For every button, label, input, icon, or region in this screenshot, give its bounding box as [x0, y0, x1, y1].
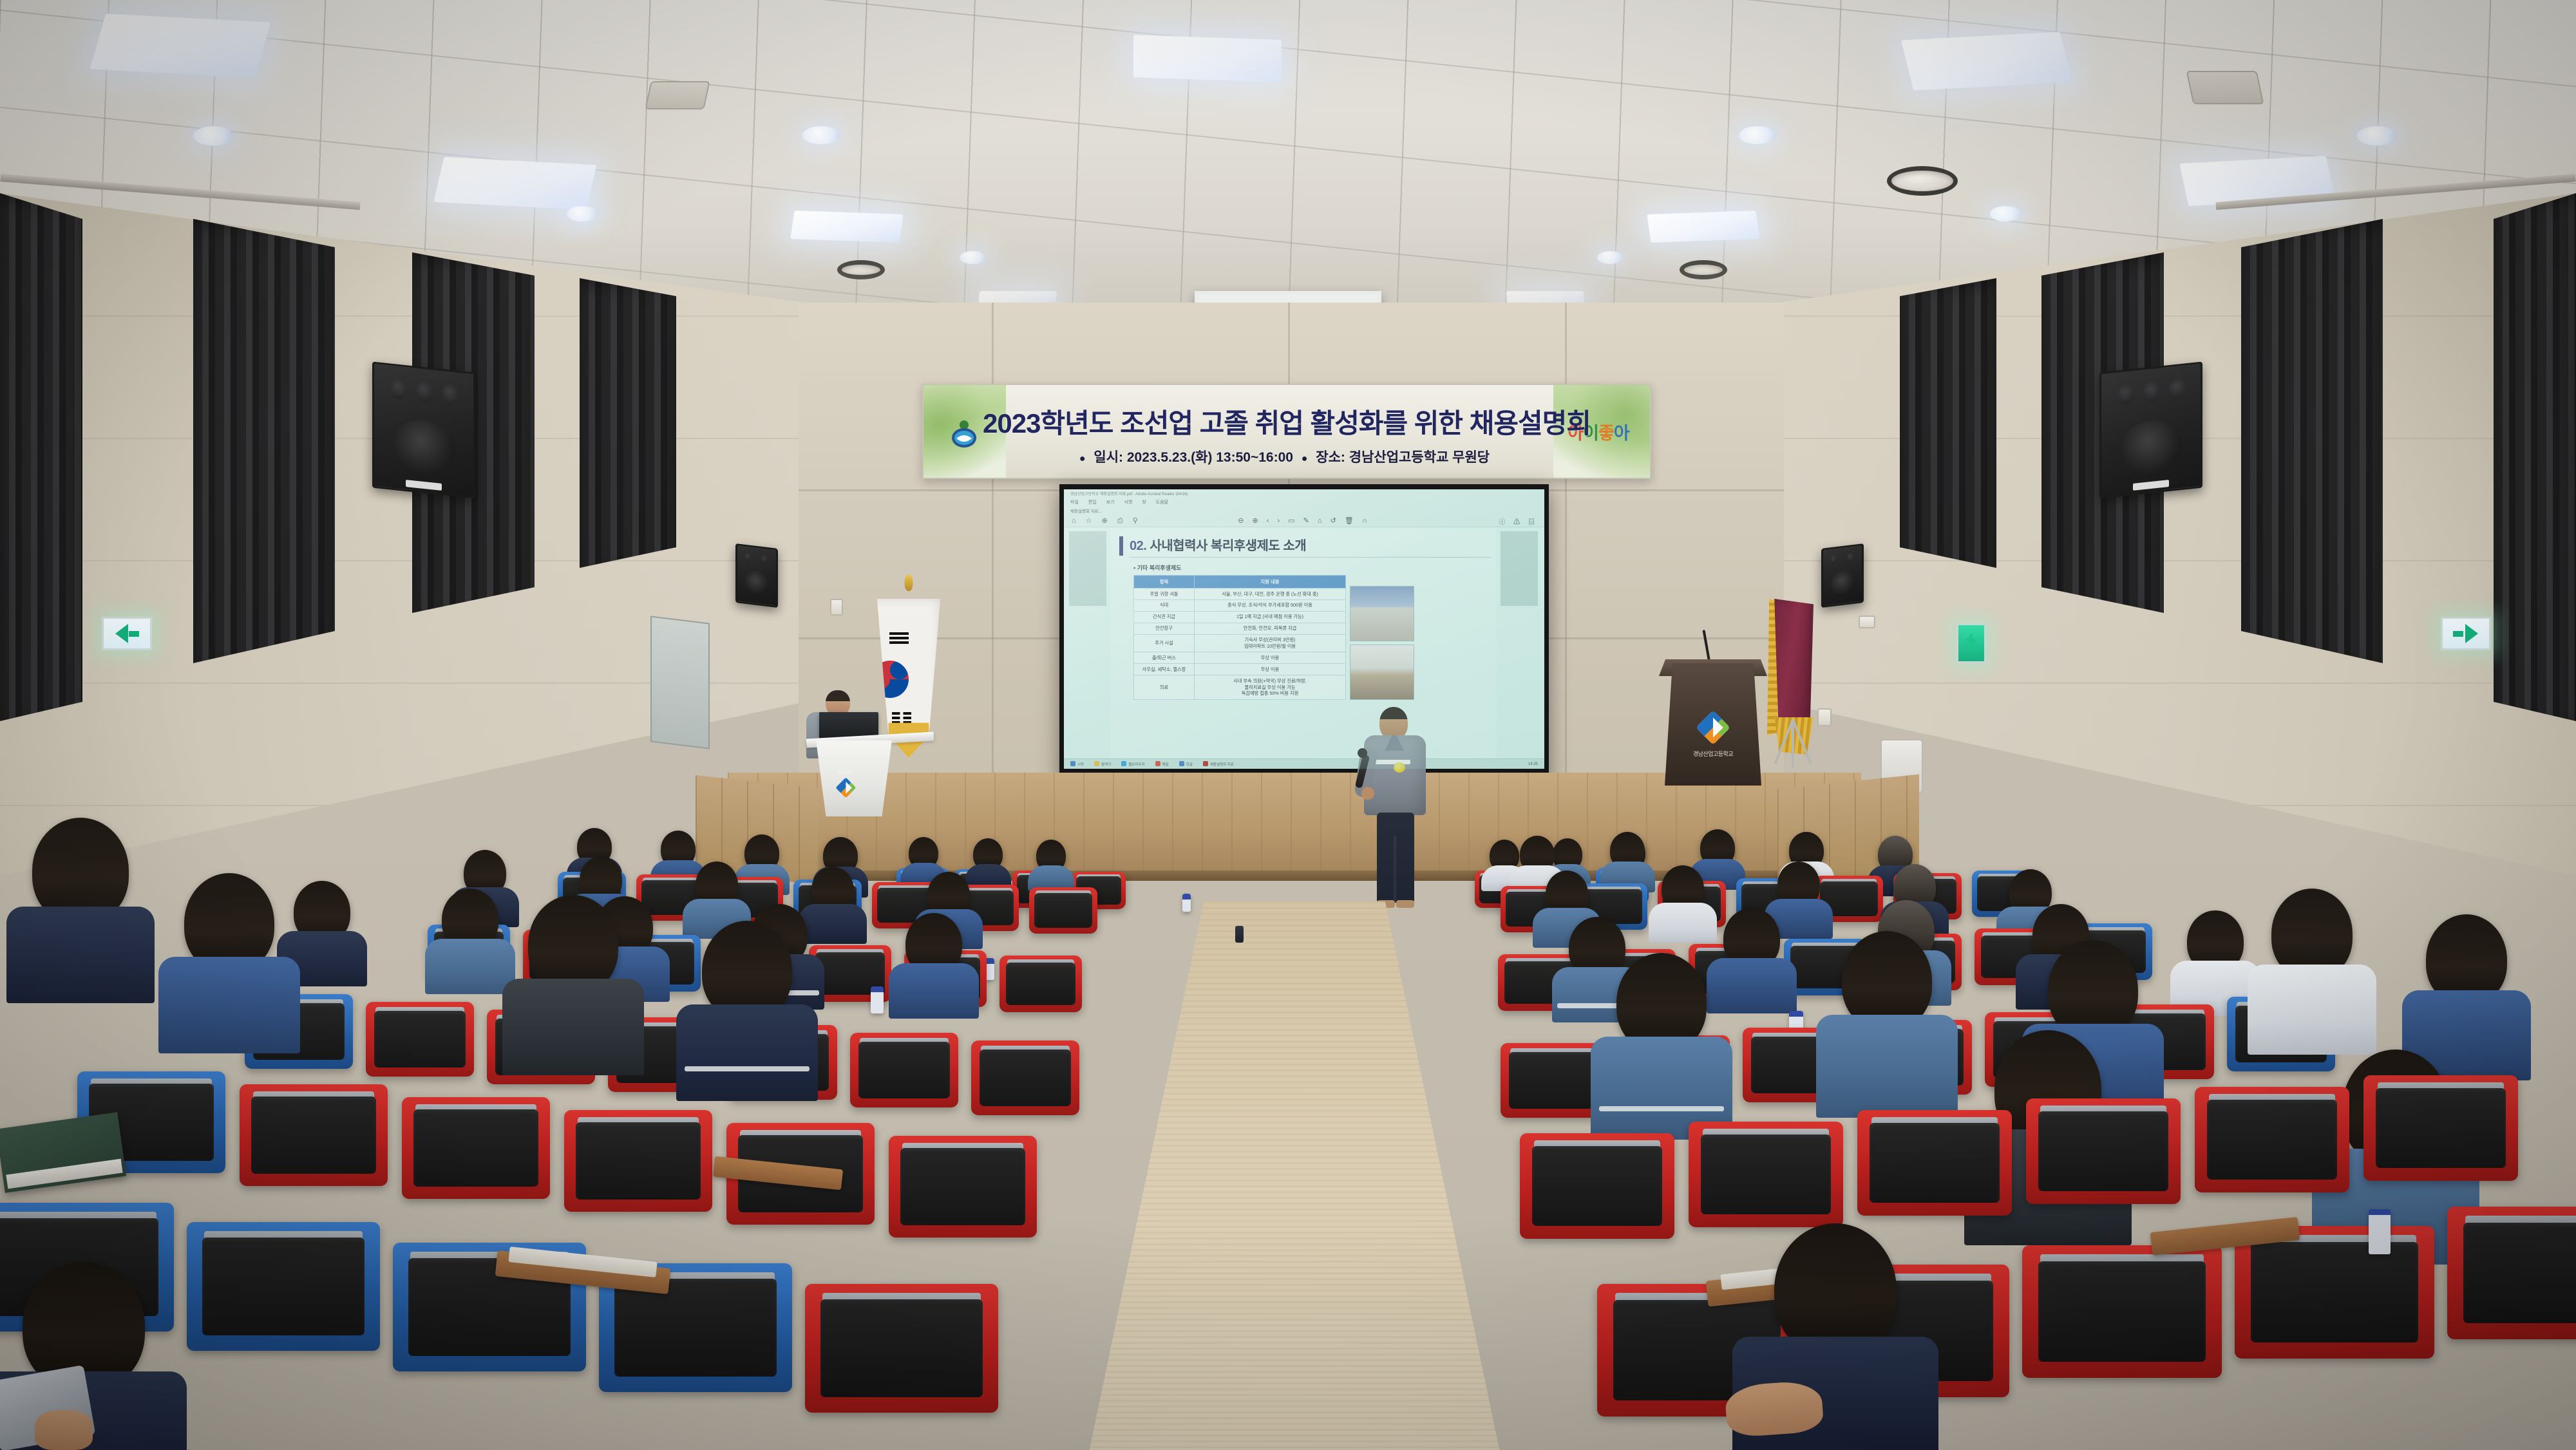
ceiling-panel-light	[1133, 35, 1282, 82]
taskbar-item-start[interactable]: 시작	[1070, 761, 1084, 767]
seat[interactable]	[999, 956, 1082, 1012]
white-lectern	[813, 740, 895, 816]
bullet-icon: ●	[1079, 453, 1086, 464]
projected-image: 경남산업고등학교 채용설명회 자료.pdf - Adobe Acrobat Re…	[1064, 489, 1544, 769]
wall-speaker-right-mid	[1821, 543, 1864, 608]
wall-speaker-left-front	[372, 362, 475, 499]
seat[interactable]	[564, 1110, 712, 1212]
banner-date: 일시: 2023.5.23.(화) 13:50~16:00	[1094, 450, 1293, 465]
taeguk-symbol	[871, 661, 909, 698]
menu-item-file[interactable]: 파일	[1070, 500, 1079, 505]
ceiling-air-vent	[2186, 71, 2264, 104]
exit-sign-left	[102, 617, 152, 650]
ceiling-downlight	[2357, 126, 2397, 146]
flag-stand	[1757, 720, 1828, 767]
toolbar-right-icon-group[interactable]: ⓘ ⚠ ▤	[1499, 516, 1538, 526]
audience-member	[2409, 914, 2524, 1056]
window-curtain-right-4	[1900, 278, 1996, 568]
flag-finial	[905, 574, 913, 591]
aisle-bottle	[1235, 926, 1244, 943]
pdf-right-panel[interactable]	[1501, 531, 1538, 606]
seat[interactable]	[1029, 887, 1097, 934]
table-header-item: 항목	[1134, 576, 1195, 588]
audience-member	[165, 873, 294, 1028]
ceiling-downlight	[1739, 126, 1776, 144]
seat[interactable]	[2447, 1207, 2576, 1339]
seat[interactable]	[2195, 1087, 2349, 1192]
school-logo	[1701, 715, 1725, 740]
slide-section-title: 사내협력사 복리후생제도 소개	[1150, 539, 1306, 553]
auditorium-scene: 아이좋아 2023학년도 조선업 고졸 취업 활성화를 위한 채용설명회 ● 일…	[0, 0, 2576, 1450]
audience-member	[509, 895, 638, 1050]
seat[interactable]	[2363, 1075, 2518, 1181]
banner-place: 장소: 경남산업고등학교 무원당	[1316, 450, 1490, 465]
banner-title: 2023학년도 조선업 고졸 취업 활성화를 위한 채용설명회	[923, 402, 1650, 441]
taskbar-item-explorer[interactable]: 탐색기	[1094, 761, 1111, 767]
slide-photo-column	[1350, 575, 1414, 700]
lectern-handle	[837, 770, 853, 775]
ceiling-downlight	[802, 126, 840, 144]
seat[interactable]	[366, 1002, 474, 1077]
toolbar-center-icon-group[interactable]: ⊖ ⊕ ‹ › ▭ ✎ ⌂ ↺ 🗑 ∩	[1238, 516, 1370, 525]
audience-member	[683, 921, 811, 1075]
table-cell-detail: 사내 부속 의원(+약국) 무상 진료/처방, 물리치료실 무상 이용 가능 독…	[1195, 675, 1346, 700]
table-row: 주말 귀향 셔틀 서울, 부산, 대구, 대전, 광주 운행 중 (노선 확대 …	[1134, 588, 1346, 600]
presenter	[1360, 707, 1430, 914]
table-cell-detail: 중식 무상, 조식/석식 부가세포함 500원 이용	[1195, 599, 1346, 611]
exit-arrow-left-icon	[115, 624, 128, 643]
table-cell-item: 간식권 지급	[1134, 611, 1195, 623]
ceiling-panel-light	[90, 14, 271, 78]
menu-item-sign[interactable]: 서명	[1124, 500, 1133, 505]
dormitory-exterior-photo	[1350, 586, 1414, 641]
slide-section-number: 02.	[1130, 539, 1146, 553]
exit-arrow-left-icon	[129, 631, 139, 637]
side-door-left[interactable]	[650, 616, 710, 749]
seat[interactable]	[402, 1097, 550, 1199]
table-row: 출/퇴근 버스 무상 이용	[1134, 652, 1346, 664]
exit-sign-far-right	[2441, 617, 2491, 650]
wall-speaker-right-front	[2099, 362, 2202, 499]
windows-taskbar[interactable]: 시작 탐색기 웹브라우저 메일 한글 채용설명회 자료 14:35	[1064, 758, 1544, 769]
presenter-head	[1379, 707, 1408, 739]
table-cell-item: 식대	[1134, 599, 1195, 611]
window-curtain-left-1	[0, 193, 82, 721]
korean-national-flag	[873, 587, 945, 758]
table-cell-item: 출/퇴근 버스	[1134, 652, 1195, 664]
seat[interactable]	[240, 1084, 388, 1186]
menu-item-window[interactable]: 창	[1142, 500, 1146, 505]
audience-member	[1600, 832, 1655, 887]
ceiling-air-vent	[645, 81, 710, 109]
seat[interactable]	[2022, 1245, 2222, 1378]
water-bottle	[1182, 894, 1191, 912]
ceiling-downlight	[567, 206, 598, 221]
audience-member	[889, 913, 979, 1003]
seat[interactable]	[850, 1033, 958, 1107]
menu-item-view[interactable]: 보기	[1106, 500, 1115, 505]
dark-lectern: 경남산업고등학교	[1665, 663, 1761, 786]
slide-bullet-heading: • 기타 복리후생제도	[1133, 563, 1492, 572]
table-cell-detail: 무상 이용	[1195, 652, 1346, 664]
pdf-left-panel[interactable]	[1069, 531, 1106, 606]
seat[interactable]	[1857, 1110, 2012, 1216]
window-curtain-right-2	[2241, 219, 2383, 663]
table-row: 사우실, 세탁소, 헬스장 무상 이용	[1134, 664, 1346, 675]
center-aisle	[1088, 901, 1501, 1450]
event-banner: 아이좋아 2023학년도 조선업 고졸 취업 활성화를 위한 채용설명회 ● 일…	[922, 384, 1651, 479]
seat[interactable]	[971, 1040, 1079, 1115]
ceiling-panel-light	[433, 157, 596, 211]
table-header-row: 항목 지원 내용	[1134, 576, 1346, 588]
pdf-document-tab[interactable]: 채용설명회 자료...	[1064, 506, 1544, 514]
pdf-toolbar[interactable]: ⌂ ☆ ⊕ ⎙ ⚲ ⊖ ⊕ ‹ › ▭ ✎ ⌂ ↺ 🗑 ∩ ⓘ ⚠ ▤	[1064, 514, 1544, 527]
menu-item-help[interactable]: 도움말	[1156, 500, 1168, 505]
school-logo-diamond	[1696, 710, 1730, 745]
presenter-hand	[1361, 787, 1374, 800]
table-row: 식대 중식 무상, 조식/석식 부가세포함 500원 이용	[1134, 599, 1346, 611]
water-bottle	[871, 986, 884, 1013]
dark-lectern-school-name: 경남산업고등학교	[1665, 749, 1761, 758]
taskbar-clock: 14:35	[1528, 762, 1538, 766]
presenter-badge	[1394, 762, 1405, 773]
table-cell-detail: 기숙사 무상(관리비 3만원) 임대아파트 10만원/월 이용	[1195, 634, 1346, 652]
pdf-app-titlebar: 경남산업고등학교 채용설명회 자료.pdf - Adobe Acrobat Re…	[1064, 489, 1544, 498]
taskbar-item-browser[interactable]: 웹브라우저	[1121, 761, 1144, 767]
table-cell-item: 의료	[1134, 675, 1195, 700]
taskbar-item-pdf[interactable]: 채용설명회 자료	[1203, 761, 1234, 767]
table-cell-item: 주거 시설	[1134, 634, 1195, 652]
seat[interactable]	[187, 1222, 380, 1351]
school-logo-diamond	[835, 777, 856, 798]
school-flag	[1765, 599, 1821, 766]
presenter-shoe-right	[1396, 900, 1414, 908]
welfare-benefits-table: 항목 지원 내용 주말 귀향 셔틀 서울, 부산, 대구, 대전, 광주 운행 …	[1133, 575, 1346, 700]
microphone-head-icon	[1358, 748, 1367, 758]
seat[interactable]	[1689, 1122, 1843, 1227]
table-header-detail: 지원 내용	[1195, 576, 1346, 588]
audience-member	[425, 889, 515, 979]
wall-switch-plate[interactable]	[1859, 616, 1875, 628]
seat[interactable]	[889, 1136, 1037, 1238]
exit-arrow-right-icon	[2453, 631, 2463, 637]
seat[interactable]	[2026, 1098, 2181, 1204]
window-curtain-left-2	[193, 219, 335, 663]
banner-subtitle: ● 일시: 2023.5.23.(화) 13:50~16:00 ● 장소: 경남…	[923, 447, 1650, 466]
slide-divider	[1130, 557, 1492, 558]
ceiling-speaker	[1887, 166, 1958, 196]
white-lectern-school-logo	[838, 780, 853, 795]
pdf-page-area: 02. 사내협력사 복리후생제도 소개 • 기타 복리후생제도 항목 지원 내용	[1064, 527, 1544, 758]
slide-accent-bar	[1119, 536, 1123, 556]
running-man-icon	[1965, 634, 1978, 653]
toolbar-left-icon-group[interactable]: ⌂ ☆ ⊕ ⎙ ⚲	[1072, 516, 1142, 525]
ceiling-downlight	[193, 126, 233, 146]
seat[interactable]	[1520, 1133, 1674, 1239]
audience-member	[2170, 910, 2260, 1001]
wall-speaker-left-mid	[735, 543, 778, 608]
tab-label[interactable]: 채용설명회 자료...	[1070, 509, 1102, 514]
water-bottle	[2369, 1209, 2391, 1254]
seat[interactable]	[2235, 1226, 2434, 1359]
pdf-app-menubar[interactable]: 파일 편집 보기 서명 창 도움말	[1064, 498, 1544, 506]
taskbar-item-hwp[interactable]: 한글	[1179, 761, 1193, 767]
ceiling-downlight	[1990, 206, 2021, 221]
presenter-name-tag	[1373, 760, 1410, 764]
slide-title: 02. 사내협력사 복리후생제도 소개	[1130, 535, 1492, 554]
table-row: 간식권 지급 1일 1매 지급 (사내 매점 이용 가능)	[1134, 611, 1346, 623]
presenter-leg-split	[1394, 836, 1396, 903]
slide-content: 항목 지원 내용 주말 귀향 셔틀 서울, 부산, 대구, 대전, 광주 운행 …	[1133, 575, 1492, 700]
dormitory-interior-photo	[1350, 645, 1414, 700]
table-cell-detail: 안전화, 안전모, 피복류 지급	[1195, 623, 1346, 634]
taskbar-item-mail[interactable]: 메일	[1155, 761, 1169, 767]
wall-switch-plate[interactable]	[830, 599, 843, 616]
table-cell-detail: 1일 1매 지급 (사내 매점 이용 가능)	[1195, 611, 1346, 623]
menu-item-edit[interactable]: 편집	[1088, 500, 1097, 505]
audience-member	[13, 818, 148, 979]
exit-sign-right	[1956, 623, 1986, 663]
window-curtain-left-4	[580, 278, 676, 568]
window-curtain-right-1	[2494, 193, 2576, 721]
presentation-slide: 02. 사내협력사 복리후생제도 소개 • 기타 복리후생제도 항목 지원 내용	[1110, 527, 1497, 758]
table-cell-item: 사우실, 세탁소, 헬스장	[1134, 664, 1195, 675]
trigram-geon	[889, 632, 909, 646]
table-cell-detail: 무상 이용	[1195, 664, 1346, 675]
table-cell-detail: 서울, 부산, 대구, 대전, 광주 운행 중 (노선 확대 중)	[1195, 588, 1346, 600]
table-row: 안전장구 안전화, 안전모, 피복류 지급	[1134, 623, 1346, 634]
table-row: 주거 시설 기숙사 무상(관리비 3만원) 임대아파트 10만원/월 이용	[1134, 634, 1346, 652]
wall-seams	[0, 193, 805, 876]
left-wall	[0, 193, 805, 876]
table-row: 의료 사내 부속 의원(+약국) 무상 진료/처방, 물리치료실 무상 이용 가…	[1134, 675, 1346, 700]
audience-member	[2254, 889, 2370, 1030]
table-cell-item: 안전장구	[1134, 623, 1195, 634]
table-cell-item: 주말 귀향 셔틀	[1134, 588, 1195, 600]
projection-screen: 경남산업고등학교 채용설명회 자료.pdf - Adobe Acrobat Re…	[1059, 484, 1549, 780]
audience-member	[1028, 840, 1074, 885]
seat[interactable]	[805, 1284, 998, 1413]
hand	[35, 1410, 93, 1450]
audience-member	[1823, 931, 1951, 1086]
ceiling-panel-light	[1901, 32, 2072, 90]
audience-member	[1597, 953, 1726, 1107]
bullet-icon: ●	[1302, 453, 1308, 464]
exit-arrow-right-icon	[2465, 624, 2478, 643]
